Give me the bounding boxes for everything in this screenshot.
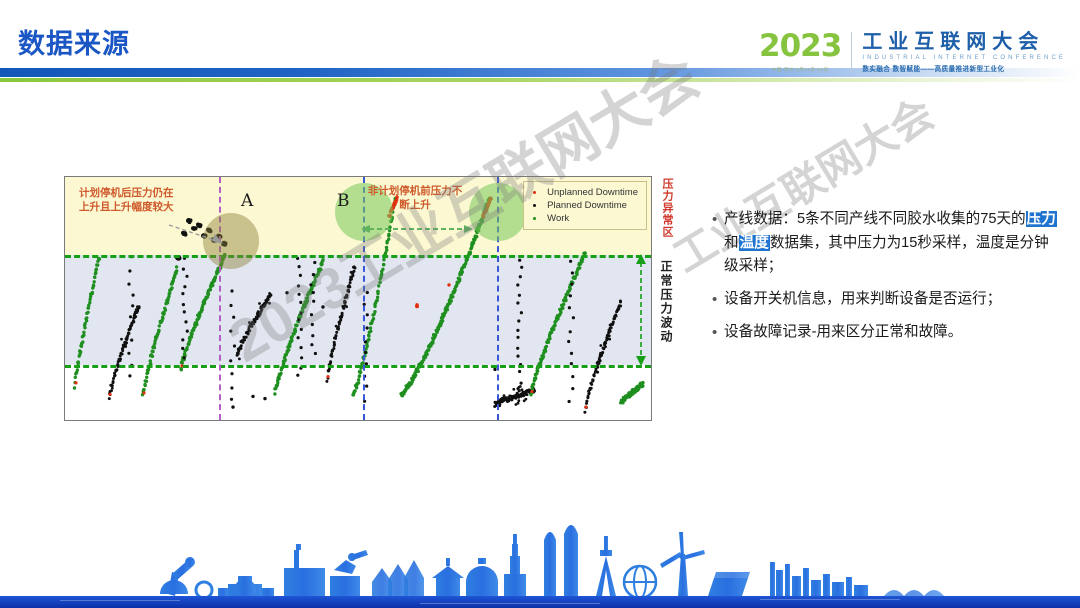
- legend-swatch-icon: [533, 204, 536, 207]
- pressure-timeseries-figure: A B C 计划停机后压力仍在上升且上升幅度较大 非计划停机前压力不断上升 Un…: [34, 176, 682, 441]
- side-label-normal-range: 正常压力波动: [656, 260, 672, 344]
- page-title: 数据来源: [18, 22, 130, 61]
- x-axis-tick: [87, 420, 88, 421]
- y-axis-tick: [64, 262, 65, 263]
- vline-planned-stop: [219, 177, 221, 420]
- y-axis-tick: [64, 298, 65, 299]
- threshold-upper-line: [65, 255, 651, 258]
- x-axis-tick: [427, 420, 428, 421]
- threshold-lower-line: [65, 365, 651, 368]
- annotation-unplanned-stop: 非计划停机前压力不断上升: [365, 185, 465, 213]
- logo-slogan: 数实融合 数智赋能——高质量推进新型工业化: [862, 63, 1066, 73]
- chart-legend: Unplanned Downtime Planned Downtime Work: [523, 181, 647, 230]
- bullet-text: 产线数据：5条不同产线不同胶水收集的75天的压力和温度数据集，其中压力为15秒采…: [724, 208, 1057, 279]
- logo-year: 2023: [759, 31, 841, 62]
- bullet-marker-icon: •: [712, 208, 724, 279]
- x-axis-tick: [495, 420, 496, 421]
- legend-swatch-icon: [533, 191, 536, 194]
- x-axis-tick: [631, 420, 632, 421]
- chart-plot-area: A B C 计划停机后压力仍在上升且上升幅度较大 非计划停机前压力不断上升 Un…: [64, 176, 652, 421]
- bullet-text-run: 数据集，其中压力为15秒采样，温度是分钟级采样；: [724, 235, 1049, 275]
- logo-year-block: 2023 中国·苏州 9月14日-19日: [759, 31, 851, 73]
- zone-label-b: B: [337, 191, 350, 211]
- bullet-item: •设备开关机信息，用来判断设备是否运行；: [712, 288, 1057, 312]
- slide-header: 数据来源 2023 中国·苏州 9月14日-19日 工业互联网大会 INDUST…: [0, 0, 1080, 96]
- slide-canvas: 数据来源 2023 中国·苏州 9月14日-19日 工业互联网大会 INDUST…: [0, 0, 1080, 608]
- zone-blob-c: [469, 183, 527, 241]
- y-axis-tick: [64, 333, 65, 334]
- logo-text-block: 工业互联网大会 INDUSTRIAL INTERNET CONFERENCE 数…: [862, 32, 1066, 73]
- legend-label: Planned Downtime: [547, 200, 627, 211]
- logo-chinese-name: 工业互联网大会: [862, 32, 1066, 53]
- legend-item-unplanned: Unplanned Downtime: [529, 186, 638, 199]
- bullet-text-run: 设备故障记录-用来区分正常和故障。: [724, 324, 962, 340]
- bullet-list: •产线数据：5条不同产线不同胶水收集的75天的压力和温度数据集，其中压力为15秒…: [712, 208, 1057, 355]
- legend-label: Unplanned Downtime: [547, 187, 638, 198]
- highlighted-term: 压力: [1026, 211, 1057, 227]
- bullet-text-run: 设备开关机信息，用来判断设备是否运行；: [724, 291, 1001, 307]
- x-axis-tick: [223, 420, 224, 421]
- bullet-item: •设备故障记录-用来区分正常和故障。: [712, 321, 1057, 345]
- x-axis-tick: [155, 420, 156, 421]
- annotation-range-arrow: [361, 223, 473, 235]
- legend-item-planned: Planned Downtime: [529, 199, 638, 212]
- bullet-text-run: 产线数据：5条不同产线不同胶水收集的75天的: [724, 211, 1026, 227]
- x-axis-tick: [291, 420, 292, 421]
- bullet-text-run: 和: [724, 235, 739, 251]
- y-axis-tick: [64, 191, 65, 192]
- highlighted-term: 温度: [739, 235, 770, 251]
- legend-swatch-icon: [533, 217, 536, 220]
- bullet-text: 设备故障记录-用来区分正常和故障。: [724, 321, 962, 345]
- bullet-item: •产线数据：5条不同产线不同胶水收集的75天的压力和温度数据集，其中压力为15秒…: [712, 208, 1057, 279]
- slide-footer: [0, 512, 1080, 608]
- side-label-abnormal-zone: 压力异常区: [656, 178, 672, 238]
- conference-logo: 2023 中国·苏州 9月14日-19日 工业互联网大会 INDUSTRIAL …: [759, 24, 1066, 80]
- annotation-leader-arrow: [169, 221, 229, 247]
- zone-label-a: A: [241, 191, 253, 211]
- y-axis-tick: [64, 369, 65, 370]
- x-axis-tick: [563, 420, 564, 421]
- city-skyline-graphic: [0, 512, 1080, 608]
- bullet-text: 设备开关机信息，用来判断设备是否运行；: [724, 288, 1001, 312]
- bullet-marker-icon: •: [712, 321, 724, 345]
- bullet-marker-icon: •: [712, 288, 724, 312]
- legend-label: Work: [547, 213, 569, 224]
- normal-range-span-arrow: [634, 254, 648, 366]
- y-axis-tick: [64, 404, 65, 405]
- y-axis-tick: [64, 227, 65, 228]
- x-axis-tick: [359, 420, 360, 421]
- logo-divider: [851, 32, 852, 72]
- legend-item-work: Work: [529, 212, 638, 225]
- annotation-planned-stop: 计划停机后压力仍在上升且上升幅度较大: [79, 187, 175, 215]
- logo-year-subtitle: 中国·苏州 9月14日-19日: [772, 67, 829, 73]
- logo-english-name: INDUSTRIAL INTERNET CONFERENCE: [862, 55, 1066, 61]
